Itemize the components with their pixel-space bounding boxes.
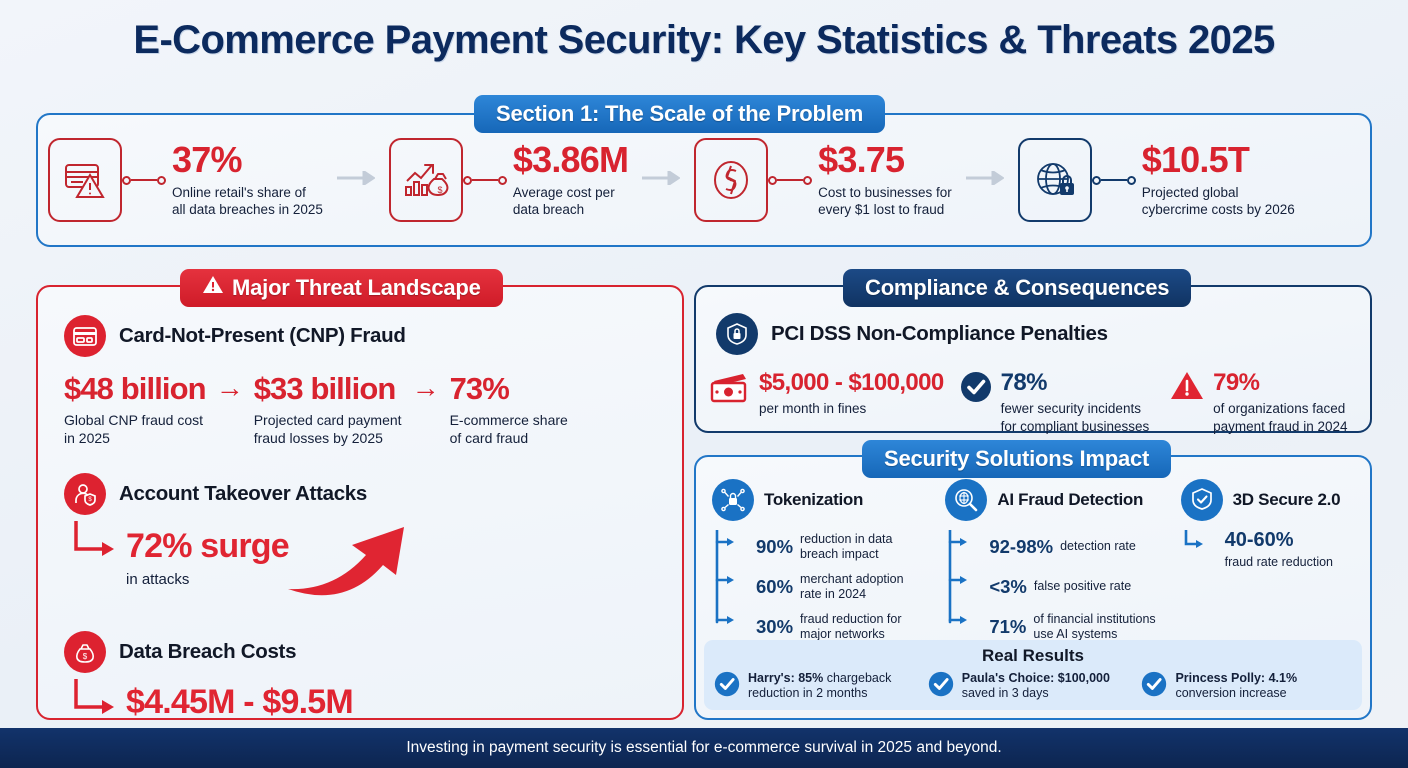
stat-description: Cost to businesses for every $1 lost to … bbox=[818, 184, 952, 219]
page-title: E-Commerce Payment Security: Key Statist… bbox=[0, 18, 1408, 63]
cnp-sub-line1: Global CNP fraud cost bbox=[64, 412, 203, 428]
warning-triangle-icon bbox=[202, 275, 224, 301]
threat-ato-sub: in attacks bbox=[126, 571, 289, 588]
flow-arrow-icon bbox=[966, 171, 1004, 190]
connector-line bbox=[768, 176, 812, 185]
stat-text: $3.86M Average cost per data breach bbox=[513, 142, 628, 219]
chart-money-bag-icon: $ bbox=[389, 138, 463, 222]
solution-pct: 40-60% bbox=[1225, 530, 1354, 550]
section1-flow: 37% Online retail's share of all data br… bbox=[38, 115, 1370, 245]
solution-text: of financial institutions use AI systems bbox=[1033, 612, 1155, 643]
compliance-value: 79% bbox=[1213, 371, 1347, 395]
solution-text-line1: fraud rate reduction bbox=[1225, 555, 1333, 569]
account-takeover-icon: $ bbox=[64, 473, 106, 515]
branch-arrow-icon bbox=[64, 521, 124, 565]
threat-ato-heading: Account Takeover Attacks bbox=[119, 482, 367, 506]
cnp-stat-value: 73% bbox=[450, 373, 568, 404]
cnp-stat: $48 billion Global CNP fraud cost in 202… bbox=[64, 373, 206, 447]
solution-pct: 90% bbox=[756, 538, 793, 557]
credit-card-icon bbox=[64, 315, 106, 357]
globe-lock-icon bbox=[1018, 138, 1092, 222]
real-result-item: Princess Polly: 4.1% conversion increase bbox=[1141, 671, 1352, 702]
cnp-sub-line2: of card fraud bbox=[450, 430, 529, 446]
solution-column-tokenization: Tokenization 90% reduction in data b bbox=[712, 479, 939, 650]
compliance-sub: of organizations faced payment fraud in … bbox=[1213, 400, 1347, 435]
cnp-sub-line1: E-commerce share bbox=[450, 412, 568, 428]
cnp-sub-line2: in 2025 bbox=[64, 430, 110, 446]
solution-items: 90% reduction in data breach impact 60% … bbox=[712, 530, 939, 644]
stat-desc-line1: Cost to businesses for bbox=[818, 185, 952, 200]
flow-arrow-icon bbox=[642, 171, 680, 190]
solution-title: 3D Secure 2.0 bbox=[1233, 490, 1341, 510]
real-result-bold: Harry's: 85% bbox=[748, 671, 823, 685]
compliance-sub-line2: payment fraud in 2024 bbox=[1213, 419, 1347, 434]
stat-value: $3.75 bbox=[818, 142, 952, 178]
solution-pct: <3% bbox=[989, 578, 1027, 597]
stat-text: $3.75 Cost to businesses for every $1 lo… bbox=[818, 142, 952, 219]
stat-desc-line2: all data breaches in 2025 bbox=[172, 202, 323, 217]
svg-text:$: $ bbox=[437, 185, 442, 195]
threat-ato-header: $ Account Takeover Attacks bbox=[64, 473, 656, 515]
warning-triangle-icon bbox=[1170, 371, 1204, 406]
compliance-cell-fines: $5,000 - $100,000 per month in fines bbox=[710, 371, 944, 418]
solution-title: AI Fraud Detection bbox=[997, 490, 1143, 510]
check-circle-icon bbox=[928, 671, 954, 702]
ai-magnifier-icon bbox=[945, 479, 987, 521]
stat-description: Projected global cybercrime costs by 202… bbox=[1142, 184, 1295, 219]
stat-card-breach-cost: $ $3.86M Average cost per data breach bbox=[389, 138, 628, 222]
solution-text-line1: detection rate bbox=[1060, 539, 1136, 553]
solution-header: AI Fraud Detection bbox=[945, 479, 1174, 521]
compliance-panel: PCI DSS Non-Compliance Penalties $5,000 … bbox=[694, 285, 1372, 433]
threat-cnp-header: Card-Not-Present (CNP) Fraud bbox=[64, 315, 656, 357]
real-result-bold: Paula's Choice: $100,000 bbox=[962, 671, 1110, 685]
stat-description: Average cost per data breach bbox=[513, 184, 628, 219]
threat-breach-heading: Data Breach Costs bbox=[119, 640, 296, 664]
cnp-stat-sub: Projected card payment fraud losses by 2… bbox=[254, 411, 402, 447]
solution-items: 40-60% fraud rate reduction bbox=[1181, 530, 1354, 570]
solution-text-line2: breach impact bbox=[800, 547, 879, 561]
solution-text: false positive rate bbox=[1034, 579, 1131, 594]
stat-desc-line2: data breach bbox=[513, 202, 584, 217]
check-circle-icon bbox=[960, 371, 992, 408]
real-result-bold: Princess Polly: 4.1% bbox=[1175, 671, 1297, 685]
solution-item: 90% reduction in data breach impact bbox=[756, 530, 939, 564]
solution-header: 3D Secure 2.0 bbox=[1181, 479, 1354, 521]
threat-breach-value: $4.45M - $9.5M bbox=[126, 685, 353, 719]
solution-pct: 92-98% bbox=[989, 538, 1053, 557]
cnp-stat-value: $48 billion bbox=[64, 373, 206, 404]
stat-desc-line1: Average cost per bbox=[513, 185, 615, 200]
svg-text:$: $ bbox=[83, 652, 88, 661]
tokenization-lock-icon bbox=[712, 479, 754, 521]
real-results-title: Real Results bbox=[714, 646, 1352, 666]
stat-text: 37% Online retail's share of all data br… bbox=[172, 142, 323, 219]
footer-text: Investing in payment security is essenti… bbox=[406, 739, 1001, 757]
solutions-badge: Security Solutions Impact bbox=[862, 440, 1171, 478]
solution-text: merchant adoption rate in 2024 bbox=[800, 572, 904, 603]
threat-breach-header: $ Data Breach Costs bbox=[64, 631, 656, 673]
compliance-sub-line1: fewer security incidents bbox=[1001, 401, 1141, 416]
threat-panel: Card-Not-Present (CNP) Fraud $48 billion… bbox=[36, 285, 684, 720]
threat-cnp-stats: $48 billion Global CNP fraud cost in 202… bbox=[64, 373, 656, 447]
threat-cnp-heading: Card-Not-Present (CNP) Fraud bbox=[119, 324, 406, 348]
cnp-stat-sub: Global CNP fraud cost in 2025 bbox=[64, 411, 206, 447]
solution-text-line1: false positive rate bbox=[1034, 579, 1131, 593]
stat-desc-line2: cybercrime costs by 2026 bbox=[1142, 202, 1295, 217]
threat-badge-label: Major Threat Landscape bbox=[232, 275, 481, 301]
solution-item: 92-98% detection rate bbox=[989, 530, 1174, 564]
real-result-text: Princess Polly: 4.1% conversion increase bbox=[1175, 671, 1297, 702]
credit-card-alert-icon bbox=[48, 138, 122, 222]
flow-arrow-icon bbox=[337, 171, 375, 190]
solution-column-ai-fraud-detection: AI Fraud Detection 92-98% detection rate bbox=[945, 479, 1174, 650]
solution-header: Tokenization bbox=[712, 479, 939, 521]
solutions-badge-label: Security Solutions Impact bbox=[884, 446, 1149, 472]
stat-desc-line2: every $1 lost to fraud bbox=[818, 202, 944, 217]
branch-lines-icon bbox=[712, 530, 738, 634]
stat-desc-line1: Projected global bbox=[1142, 185, 1239, 200]
compliance-cells: $5,000 - $100,000 per month in fines 78%… bbox=[696, 371, 1370, 435]
stat-card-breach-share: 37% Online retail's share of all data br… bbox=[48, 138, 323, 222]
solutions-columns: Tokenization 90% reduction in data b bbox=[696, 457, 1370, 650]
compliance-value: $5,000 - $100,000 bbox=[759, 371, 944, 395]
solution-text: detection rate bbox=[1060, 539, 1136, 554]
real-result-line2: reduction in 2 months bbox=[748, 686, 868, 700]
stat-value: 37% bbox=[172, 142, 323, 178]
stat-desc-line1: Online retail's share of bbox=[172, 185, 306, 200]
stat-value: $3.86M bbox=[513, 142, 628, 178]
branch-lines-icon bbox=[945, 530, 971, 634]
solution-items: 92-98% detection rate <3% false positive… bbox=[945, 530, 1174, 644]
stat-card-fraud-multiplier: $3.75 Cost to businesses for every $1 lo… bbox=[694, 138, 952, 222]
compliance-cell-fraud: 79% of organizations faced payment fraud… bbox=[1170, 371, 1356, 435]
cnp-sub-line2: fraud losses by 2025 bbox=[254, 430, 383, 446]
cash-stack-icon bbox=[710, 371, 750, 410]
solution-item: <3% false positive rate bbox=[989, 570, 1174, 604]
solution-text-line1: merchant adoption bbox=[800, 572, 904, 586]
compliance-header: PCI DSS Non-Compliance Penalties bbox=[696, 313, 1370, 355]
section1-badge-label: Section 1: The Scale of the Problem bbox=[496, 101, 863, 127]
solution-title: Tokenization bbox=[764, 490, 863, 510]
connector-line bbox=[463, 176, 507, 185]
solution-text: reduction in data breach impact bbox=[800, 532, 892, 563]
connector-line bbox=[122, 176, 166, 185]
cnp-stat: $33 billion Projected card payment fraud… bbox=[254, 373, 402, 447]
compliance-badge: Compliance & Consequences bbox=[843, 269, 1191, 307]
compliance-cell-incidents: 78% fewer security incidents for complia… bbox=[960, 371, 1155, 435]
solution-column-3d-secure: 3D Secure 2.0 40-60% fraud rate reductio… bbox=[1181, 479, 1354, 650]
solution-text: fraud rate reduction bbox=[1225, 555, 1354, 570]
real-result-line2: saved in 3 days bbox=[962, 686, 1049, 700]
solution-text-line2: use AI systems bbox=[1033, 627, 1117, 641]
compliance-sub: fewer security incidents for compliant b… bbox=[1001, 400, 1150, 435]
connector-line bbox=[1092, 176, 1136, 185]
solution-text-line1: fraud reduction for bbox=[800, 612, 901, 626]
solution-pct: 60% bbox=[756, 578, 793, 597]
check-circle-icon bbox=[1141, 671, 1167, 702]
threat-ato-value: 72% surge bbox=[126, 529, 289, 563]
real-results-panel: Real Results Harry's: 85% chargeback red… bbox=[704, 640, 1362, 710]
money-bag-icon: $ bbox=[64, 631, 106, 673]
real-result-rest: chargeback bbox=[823, 671, 891, 685]
solution-text: fraud reduction for major networks bbox=[800, 612, 901, 643]
real-result-item: Harry's: 85% chargeback reduction in 2 m… bbox=[714, 671, 925, 702]
dollar-broken-icon bbox=[694, 138, 768, 222]
shield-check-icon bbox=[1181, 479, 1223, 521]
shield-lock-icon bbox=[716, 313, 758, 355]
section1-badge: Section 1: The Scale of the Problem bbox=[474, 95, 885, 133]
solution-text-line2: major networks bbox=[800, 627, 885, 641]
cnp-stat-value: $33 billion bbox=[254, 373, 402, 404]
cnp-stat: 73% E-commerce share of card fraud bbox=[450, 373, 568, 447]
cnp-arrow-icon: → bbox=[216, 374, 244, 402]
compliance-sub-line1: of organizations faced bbox=[1213, 401, 1345, 416]
solutions-panel: Tokenization 90% reduction in data b bbox=[694, 455, 1372, 720]
stat-card-cybercrime-cost: $10.5T Projected global cybercrime costs… bbox=[1018, 138, 1295, 222]
stat-description: Online retail's share of all data breach… bbox=[172, 184, 323, 219]
stat-value: $10.5T bbox=[1142, 142, 1295, 178]
compliance-value: 78% bbox=[1001, 371, 1150, 395]
solution-item: 30% fraud reduction for major networks bbox=[756, 610, 939, 644]
solution-item: 60% merchant adoption rate in 2024 bbox=[756, 570, 939, 604]
stat-text: $10.5T Projected global cybercrime costs… bbox=[1142, 142, 1295, 219]
upward-trend-arrow-icon bbox=[282, 513, 422, 599]
real-result-text: Harry's: 85% chargeback reduction in 2 m… bbox=[748, 671, 891, 702]
real-result-text: Paula's Choice: $100,000 saved in 3 days bbox=[962, 671, 1110, 702]
threat-ato-body: 72% surge in attacks bbox=[64, 521, 656, 617]
solution-item: 71% of financial institutions use AI sys… bbox=[989, 610, 1174, 644]
footer-bar: Investing in payment security is essenti… bbox=[0, 728, 1408, 768]
section1-panel: 37% Online retail's share of all data br… bbox=[36, 113, 1372, 247]
real-results-row: Harry's: 85% chargeback reduction in 2 m… bbox=[714, 671, 1352, 702]
solution-text-line2: rate in 2024 bbox=[800, 587, 866, 601]
solution-pct: 71% bbox=[989, 618, 1026, 637]
solution-pct: 30% bbox=[756, 618, 793, 637]
infographic-page: E-Commerce Payment Security: Key Statist… bbox=[0, 0, 1408, 768]
solution-text-line1: reduction in data bbox=[800, 532, 892, 546]
branch-arrow-icon bbox=[64, 679, 124, 723]
cnp-stat-sub: E-commerce share of card fraud bbox=[450, 411, 568, 447]
compliance-badge-label: Compliance & Consequences bbox=[865, 275, 1169, 301]
solution-text-line1: of financial institutions bbox=[1033, 612, 1155, 626]
cnp-arrow-icon: → bbox=[412, 374, 440, 402]
compliance-sub-line2: for compliant businesses bbox=[1001, 419, 1150, 434]
branch-lines-icon bbox=[1181, 530, 1207, 560]
check-circle-icon bbox=[714, 671, 740, 702]
cnp-sub-line1: Projected card payment bbox=[254, 412, 402, 428]
compliance-sub: per month in fines bbox=[759, 400, 944, 418]
solution-item: 40-60% fraud rate reduction bbox=[1225, 530, 1354, 570]
real-result-item: Paula's Choice: $100,000 saved in 3 days bbox=[928, 671, 1139, 702]
threat-badge: Major Threat Landscape bbox=[180, 269, 503, 307]
compliance-heading: PCI DSS Non-Compliance Penalties bbox=[771, 322, 1108, 346]
real-result-line2: conversion increase bbox=[1175, 686, 1286, 700]
